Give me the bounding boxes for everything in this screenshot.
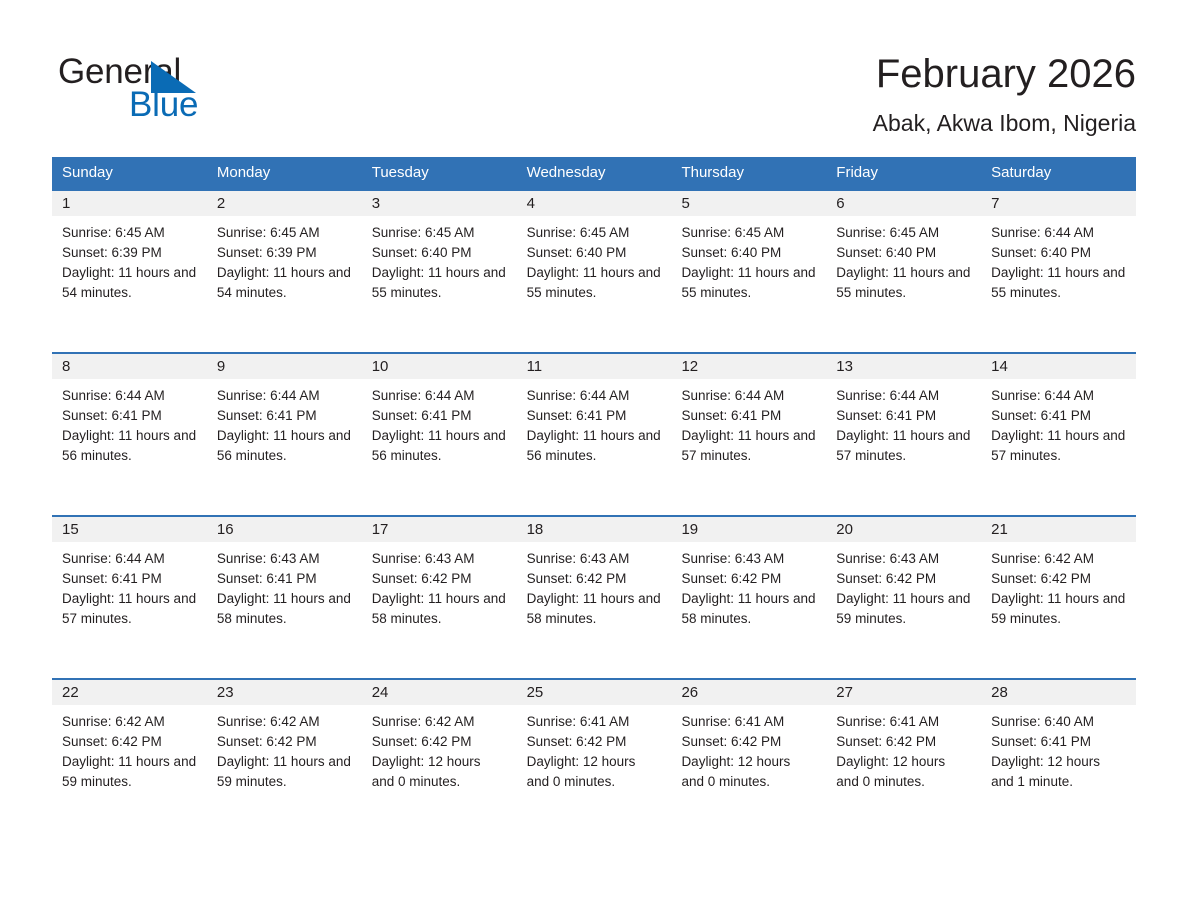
day-cell[interactable]: 10 Sunrise: 6:44 AM Sunset: 6:41 PM Dayl…: [362, 354, 517, 515]
day-number: 5: [671, 191, 826, 216]
day-number-band: 27: [826, 680, 981, 705]
sunset-text: Sunset: 6:41 PM: [836, 406, 971, 426]
day-info: Sunrise: 6:43 AM Sunset: 6:42 PM Dayligh…: [517, 542, 672, 629]
sunrise-text: Sunrise: 6:42 AM: [372, 712, 507, 732]
day-cell[interactable]: 25 Sunrise: 6:41 AM Sunset: 6:42 PM Dayl…: [517, 680, 672, 841]
sunset-text: Sunset: 6:41 PM: [681, 406, 816, 426]
sunset-text: Sunset: 6:41 PM: [217, 569, 352, 589]
sunrise-text: Sunrise: 6:43 AM: [681, 549, 816, 569]
day-number: 4: [517, 191, 672, 216]
day-info: Sunrise: 6:42 AM Sunset: 6:42 PM Dayligh…: [362, 705, 517, 792]
sunrise-text: Sunrise: 6:44 AM: [217, 386, 352, 406]
day-info: Sunrise: 6:41 AM Sunset: 6:42 PM Dayligh…: [671, 705, 826, 792]
page-title: February 2026: [873, 50, 1136, 98]
day-info: Sunrise: 6:42 AM Sunset: 6:42 PM Dayligh…: [52, 705, 207, 792]
sunset-text: Sunset: 6:41 PM: [62, 406, 197, 426]
day-cell[interactable]: 27 Sunrise: 6:41 AM Sunset: 6:42 PM Dayl…: [826, 680, 981, 841]
day-number-band: 5: [671, 191, 826, 216]
day-number-band: 24: [362, 680, 517, 705]
day-cell[interactable]: 24 Sunrise: 6:42 AM Sunset: 6:42 PM Dayl…: [362, 680, 517, 841]
day-number-band: 17: [362, 517, 517, 542]
daylight-text: Daylight: 11 hours and 57 minutes.: [62, 589, 197, 629]
weekday-header-sunday: Sunday: [52, 157, 207, 189]
sunset-text: Sunset: 6:40 PM: [991, 243, 1126, 263]
sunset-text: Sunset: 6:40 PM: [527, 243, 662, 263]
day-number-band: 23: [207, 680, 362, 705]
daylight-text: Daylight: 11 hours and 59 minutes.: [991, 589, 1126, 629]
daylight-text: Daylight: 11 hours and 59 minutes.: [217, 752, 352, 792]
logo-text-blue: Blue: [129, 87, 198, 122]
sunrise-text: Sunrise: 6:45 AM: [527, 223, 662, 243]
daylight-text: Daylight: 11 hours and 54 minutes.: [62, 263, 197, 303]
day-number: 9: [207, 354, 362, 379]
sunset-text: Sunset: 6:41 PM: [62, 569, 197, 589]
day-number-band: 20: [826, 517, 981, 542]
day-info: Sunrise: 6:41 AM Sunset: 6:42 PM Dayligh…: [826, 705, 981, 792]
day-cell[interactable]: 5 Sunrise: 6:45 AM Sunset: 6:40 PM Dayli…: [671, 191, 826, 352]
sunset-text: Sunset: 6:39 PM: [217, 243, 352, 263]
sunset-text: Sunset: 6:42 PM: [62, 732, 197, 752]
sunrise-text: Sunrise: 6:45 AM: [681, 223, 816, 243]
day-info: Sunrise: 6:41 AM Sunset: 6:42 PM Dayligh…: [517, 705, 672, 792]
sunrise-text: Sunrise: 6:45 AM: [372, 223, 507, 243]
day-number: 24: [362, 680, 517, 705]
day-info: Sunrise: 6:44 AM Sunset: 6:41 PM Dayligh…: [207, 379, 362, 466]
day-number-band: 28: [981, 680, 1136, 705]
sunrise-text: Sunrise: 6:42 AM: [217, 712, 352, 732]
day-number: 20: [826, 517, 981, 542]
sunset-text: Sunset: 6:42 PM: [217, 732, 352, 752]
day-cell[interactable]: 21 Sunrise: 6:42 AM Sunset: 6:42 PM Dayl…: [981, 517, 1136, 678]
day-cell[interactable]: 4 Sunrise: 6:45 AM Sunset: 6:40 PM Dayli…: [517, 191, 672, 352]
day-cell[interactable]: 16 Sunrise: 6:43 AM Sunset: 6:41 PM Dayl…: [207, 517, 362, 678]
day-cell[interactable]: 15 Sunrise: 6:44 AM Sunset: 6:41 PM Dayl…: [52, 517, 207, 678]
daylight-text: Daylight: 11 hours and 56 minutes.: [62, 426, 197, 466]
sunrise-text: Sunrise: 6:43 AM: [527, 549, 662, 569]
daylight-text: Daylight: 11 hours and 59 minutes.: [62, 752, 197, 792]
day-number: 11: [517, 354, 672, 379]
day-number-band: 26: [671, 680, 826, 705]
day-cell[interactable]: 28 Sunrise: 6:40 AM Sunset: 6:41 PM Dayl…: [981, 680, 1136, 841]
daylight-text: Daylight: 12 hours and 1 minute.: [991, 752, 1126, 792]
sunrise-text: Sunrise: 6:44 AM: [62, 386, 197, 406]
day-number: 8: [52, 354, 207, 379]
day-info: Sunrise: 6:45 AM Sunset: 6:40 PM Dayligh…: [826, 216, 981, 303]
sunrise-text: Sunrise: 6:44 AM: [62, 549, 197, 569]
sunrise-text: Sunrise: 6:40 AM: [991, 712, 1126, 732]
sunset-text: Sunset: 6:42 PM: [991, 569, 1126, 589]
sunset-text: Sunset: 6:42 PM: [836, 732, 971, 752]
day-number: 22: [52, 680, 207, 705]
sunrise-text: Sunrise: 6:44 AM: [372, 386, 507, 406]
daylight-text: Daylight: 11 hours and 55 minutes.: [372, 263, 507, 303]
week-row: 15 Sunrise: 6:44 AM Sunset: 6:41 PM Dayl…: [52, 515, 1136, 678]
day-cell[interactable]: 1 Sunrise: 6:45 AM Sunset: 6:39 PM Dayli…: [52, 191, 207, 352]
day-cell[interactable]: 2 Sunrise: 6:45 AM Sunset: 6:39 PM Dayli…: [207, 191, 362, 352]
day-number-band: 13: [826, 354, 981, 379]
day-info: Sunrise: 6:44 AM Sunset: 6:41 PM Dayligh…: [52, 379, 207, 466]
day-number: 12: [671, 354, 826, 379]
sunset-text: Sunset: 6:42 PM: [372, 569, 507, 589]
location-subtitle: Abak, Akwa Ibom, Nigeria: [873, 108, 1136, 138]
day-number-band: 2: [207, 191, 362, 216]
sunrise-text: Sunrise: 6:41 AM: [836, 712, 971, 732]
day-number-band: 6: [826, 191, 981, 216]
sunset-text: Sunset: 6:41 PM: [527, 406, 662, 426]
sunset-text: Sunset: 6:40 PM: [681, 243, 816, 263]
day-cell[interactable]: 17 Sunrise: 6:43 AM Sunset: 6:42 PM Dayl…: [362, 517, 517, 678]
daylight-text: Daylight: 11 hours and 58 minutes.: [217, 589, 352, 629]
day-info: Sunrise: 6:43 AM Sunset: 6:41 PM Dayligh…: [207, 542, 362, 629]
day-info: Sunrise: 6:45 AM Sunset: 6:39 PM Dayligh…: [52, 216, 207, 303]
day-cell[interactable]: 14 Sunrise: 6:44 AM Sunset: 6:41 PM Dayl…: [981, 354, 1136, 515]
day-cell[interactable]: 13 Sunrise: 6:44 AM Sunset: 6:41 PM Dayl…: [826, 354, 981, 515]
daylight-text: Daylight: 11 hours and 57 minutes.: [991, 426, 1126, 466]
calendar-grid: Sunday Monday Tuesday Wednesday Thursday…: [52, 157, 1136, 841]
day-number-band: 4: [517, 191, 672, 216]
daylight-text: Daylight: 11 hours and 55 minutes.: [681, 263, 816, 303]
day-cell[interactable]: 26 Sunrise: 6:41 AM Sunset: 6:42 PM Dayl…: [671, 680, 826, 841]
day-info: Sunrise: 6:44 AM Sunset: 6:41 PM Dayligh…: [981, 379, 1136, 466]
day-number: 15: [52, 517, 207, 542]
day-number: 17: [362, 517, 517, 542]
day-number-band: 10: [362, 354, 517, 379]
sunset-text: Sunset: 6:41 PM: [372, 406, 507, 426]
day-number: 1: [52, 191, 207, 216]
day-cell[interactable]: 7 Sunrise: 6:44 AM Sunset: 6:40 PM Dayli…: [981, 191, 1136, 352]
day-number: 19: [671, 517, 826, 542]
daylight-text: Daylight: 11 hours and 55 minutes.: [527, 263, 662, 303]
day-cell[interactable]: 22 Sunrise: 6:42 AM Sunset: 6:42 PM Dayl…: [52, 680, 207, 841]
weekday-header-thursday: Thursday: [671, 157, 826, 189]
sunset-text: Sunset: 6:42 PM: [681, 569, 816, 589]
sunset-text: Sunset: 6:42 PM: [527, 569, 662, 589]
sunset-text: Sunset: 6:41 PM: [991, 732, 1126, 752]
daylight-text: Daylight: 12 hours and 0 minutes.: [836, 752, 971, 792]
day-number: 6: [826, 191, 981, 216]
weekday-header-friday: Friday: [826, 157, 981, 189]
daylight-text: Daylight: 12 hours and 0 minutes.: [372, 752, 507, 792]
day-info: Sunrise: 6:44 AM Sunset: 6:41 PM Dayligh…: [362, 379, 517, 466]
day-info: Sunrise: 6:44 AM Sunset: 6:41 PM Dayligh…: [52, 542, 207, 629]
sunrise-text: Sunrise: 6:43 AM: [372, 549, 507, 569]
day-number-band: 19: [671, 517, 826, 542]
sunrise-text: Sunrise: 6:45 AM: [62, 223, 197, 243]
daylight-text: Daylight: 11 hours and 55 minutes.: [836, 263, 971, 303]
day-number-band: 8: [52, 354, 207, 379]
daylight-text: Daylight: 11 hours and 59 minutes.: [836, 589, 971, 629]
day-number-band: 11: [517, 354, 672, 379]
day-cell[interactable]: 20 Sunrise: 6:43 AM Sunset: 6:42 PM Dayl…: [826, 517, 981, 678]
sunset-text: Sunset: 6:40 PM: [372, 243, 507, 263]
day-cell[interactable]: 23 Sunrise: 6:42 AM Sunset: 6:42 PM Dayl…: [207, 680, 362, 841]
day-info: Sunrise: 6:45 AM Sunset: 6:39 PM Dayligh…: [207, 216, 362, 303]
day-cell[interactable]: 8 Sunrise: 6:44 AM Sunset: 6:41 PM Dayli…: [52, 354, 207, 515]
day-number: 13: [826, 354, 981, 379]
day-number: 10: [362, 354, 517, 379]
sunset-text: Sunset: 6:41 PM: [991, 406, 1126, 426]
day-number-band: 18: [517, 517, 672, 542]
sunrise-text: Sunrise: 6:41 AM: [681, 712, 816, 732]
day-number: 16: [207, 517, 362, 542]
day-cell[interactable]: 12 Sunrise: 6:44 AM Sunset: 6:41 PM Dayl…: [671, 354, 826, 515]
day-info: Sunrise: 6:45 AM Sunset: 6:40 PM Dayligh…: [362, 216, 517, 303]
daylight-text: Daylight: 11 hours and 54 minutes.: [217, 263, 352, 303]
day-cell[interactable]: 19 Sunrise: 6:43 AM Sunset: 6:42 PM Dayl…: [671, 517, 826, 678]
day-number: 3: [362, 191, 517, 216]
day-info: Sunrise: 6:44 AM Sunset: 6:41 PM Dayligh…: [671, 379, 826, 466]
day-cell[interactable]: 11 Sunrise: 6:44 AM Sunset: 6:41 PM Dayl…: [517, 354, 672, 515]
daylight-text: Daylight: 11 hours and 57 minutes.: [836, 426, 971, 466]
day-number-band: 25: [517, 680, 672, 705]
daylight-text: Daylight: 11 hours and 58 minutes.: [681, 589, 816, 629]
day-number: 23: [207, 680, 362, 705]
daylight-text: Daylight: 12 hours and 0 minutes.: [681, 752, 816, 792]
sunset-text: Sunset: 6:40 PM: [836, 243, 971, 263]
sunset-text: Sunset: 6:42 PM: [372, 732, 507, 752]
weekday-header-monday: Monday: [207, 157, 362, 189]
day-cell[interactable]: 3 Sunrise: 6:45 AM Sunset: 6:40 PM Dayli…: [362, 191, 517, 352]
day-cell[interactable]: 9 Sunrise: 6:44 AM Sunset: 6:41 PM Dayli…: [207, 354, 362, 515]
day-info: Sunrise: 6:40 AM Sunset: 6:41 PM Dayligh…: [981, 705, 1136, 792]
sunset-text: Sunset: 6:42 PM: [681, 732, 816, 752]
sunrise-text: Sunrise: 6:41 AM: [527, 712, 662, 732]
day-info: Sunrise: 6:45 AM Sunset: 6:40 PM Dayligh…: [671, 216, 826, 303]
sunset-text: Sunset: 6:39 PM: [62, 243, 197, 263]
sunrise-text: Sunrise: 6:45 AM: [836, 223, 971, 243]
week-row: 8 Sunrise: 6:44 AM Sunset: 6:41 PM Dayli…: [52, 352, 1136, 515]
day-info: Sunrise: 6:43 AM Sunset: 6:42 PM Dayligh…: [671, 542, 826, 629]
day-number: 7: [981, 191, 1136, 216]
day-number: 21: [981, 517, 1136, 542]
sunrise-text: Sunrise: 6:42 AM: [62, 712, 197, 732]
day-info: Sunrise: 6:43 AM Sunset: 6:42 PM Dayligh…: [362, 542, 517, 629]
sunset-text: Sunset: 6:42 PM: [836, 569, 971, 589]
daylight-text: Daylight: 11 hours and 58 minutes.: [372, 589, 507, 629]
day-cell[interactable]: 6 Sunrise: 6:45 AM Sunset: 6:40 PM Dayli…: [826, 191, 981, 352]
daylight-text: Daylight: 11 hours and 57 minutes.: [681, 426, 816, 466]
daylight-text: Daylight: 11 hours and 58 minutes.: [527, 589, 662, 629]
day-info: Sunrise: 6:44 AM Sunset: 6:40 PM Dayligh…: [981, 216, 1136, 303]
week-row: 22 Sunrise: 6:42 AM Sunset: 6:42 PM Dayl…: [52, 678, 1136, 841]
weekday-header-saturday: Saturday: [981, 157, 1136, 189]
day-number: 18: [517, 517, 672, 542]
sunrise-text: Sunrise: 6:44 AM: [836, 386, 971, 406]
sunset-text: Sunset: 6:42 PM: [527, 732, 662, 752]
calendar-page: General Blue February 2026 Abak, Akwa Ib…: [0, 0, 1188, 918]
sunrise-text: Sunrise: 6:43 AM: [836, 549, 971, 569]
day-number: 26: [671, 680, 826, 705]
day-info: Sunrise: 6:45 AM Sunset: 6:40 PM Dayligh…: [517, 216, 672, 303]
sunset-text: Sunset: 6:41 PM: [217, 406, 352, 426]
daylight-text: Daylight: 11 hours and 56 minutes.: [372, 426, 507, 466]
page-header: General Blue February 2026 Abak, Akwa Ib…: [0, 0, 1188, 150]
daylight-text: Daylight: 11 hours and 56 minutes.: [527, 426, 662, 466]
day-info: Sunrise: 6:44 AM Sunset: 6:41 PM Dayligh…: [517, 379, 672, 466]
day-number: 14: [981, 354, 1136, 379]
sunrise-text: Sunrise: 6:45 AM: [217, 223, 352, 243]
day-number-band: 3: [362, 191, 517, 216]
day-number: 25: [517, 680, 672, 705]
day-number: 28: [981, 680, 1136, 705]
weekday-header-row: Sunday Monday Tuesday Wednesday Thursday…: [52, 157, 1136, 189]
day-number: 27: [826, 680, 981, 705]
day-cell[interactable]: 18 Sunrise: 6:43 AM Sunset: 6:42 PM Dayl…: [517, 517, 672, 678]
title-block: February 2026 Abak, Akwa Ibom, Nigeria: [873, 50, 1136, 138]
sunrise-text: Sunrise: 6:43 AM: [217, 549, 352, 569]
sunrise-text: Sunrise: 6:44 AM: [991, 386, 1126, 406]
day-number-band: 22: [52, 680, 207, 705]
daylight-text: Daylight: 12 hours and 0 minutes.: [527, 752, 662, 792]
weekday-header-tuesday: Tuesday: [362, 157, 517, 189]
daylight-text: Daylight: 11 hours and 55 minutes.: [991, 263, 1126, 303]
day-number-band: 15: [52, 517, 207, 542]
day-number-band: 9: [207, 354, 362, 379]
day-number: 2: [207, 191, 362, 216]
daylight-text: Daylight: 11 hours and 56 minutes.: [217, 426, 352, 466]
day-info: Sunrise: 6:44 AM Sunset: 6:41 PM Dayligh…: [826, 379, 981, 466]
day-number-band: 12: [671, 354, 826, 379]
day-number-band: 7: [981, 191, 1136, 216]
day-info: Sunrise: 6:42 AM Sunset: 6:42 PM Dayligh…: [981, 542, 1136, 629]
sunrise-text: Sunrise: 6:44 AM: [991, 223, 1126, 243]
day-number-band: 21: [981, 517, 1136, 542]
generalblue-logo[interactable]: General Blue: [58, 54, 358, 134]
sunrise-text: Sunrise: 6:44 AM: [527, 386, 662, 406]
day-number-band: 1: [52, 191, 207, 216]
sunrise-text: Sunrise: 6:42 AM: [991, 549, 1126, 569]
weekday-header-wednesday: Wednesday: [517, 157, 672, 189]
week-row: 1 Sunrise: 6:45 AM Sunset: 6:39 PM Dayli…: [52, 189, 1136, 352]
day-info: Sunrise: 6:42 AM Sunset: 6:42 PM Dayligh…: [207, 705, 362, 792]
day-number-band: 16: [207, 517, 362, 542]
day-info: Sunrise: 6:43 AM Sunset: 6:42 PM Dayligh…: [826, 542, 981, 629]
sunrise-text: Sunrise: 6:44 AM: [681, 386, 816, 406]
day-number-band: 14: [981, 354, 1136, 379]
